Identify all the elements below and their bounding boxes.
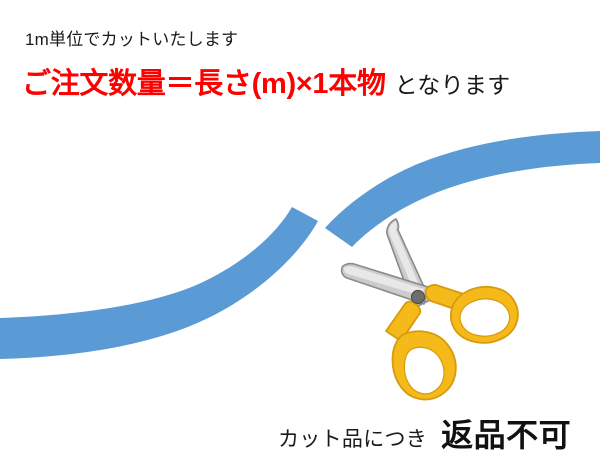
- scissors-icon: [342, 219, 518, 399]
- cut-notice-graphic: 1m単位でカットいたします ご注文数量＝長さ(m)×1本物となります カット品に…: [0, 0, 600, 466]
- scissors-shank-upper: [426, 285, 470, 313]
- blue-cord-upper-segment: [325, 131, 600, 247]
- footer-note-small: カット品につき: [278, 428, 427, 451]
- headline-main-black: となります: [395, 72, 511, 98]
- scissors-blade-upper: [387, 219, 430, 308]
- scissors-blade-upper-highlight: [389, 221, 424, 300]
- scissors-handle-hole-upper: [460, 299, 510, 336]
- scissors-pivot-screw: [412, 291, 425, 304]
- scissors-handle-loop-upper: [451, 287, 518, 343]
- scissors-blade-left-highlight: [344, 266, 424, 296]
- scissors-handle-hole-lower: [404, 347, 444, 394]
- footer-note: カット品につき返品不可: [278, 419, 571, 451]
- scissors-handle-loop-lower: [393, 331, 456, 399]
- headline-sub-text: 1m単位でカットいたします: [25, 31, 238, 48]
- scissors-shank-lower: [386, 302, 420, 341]
- footer-note-emphasis: 返品不可: [441, 417, 571, 453]
- headline-main-red: ご注文数量＝長さ(m)×1本物: [22, 68, 386, 100]
- headline-main-text: ご注文数量＝長さ(m)×1本物となります: [22, 70, 510, 99]
- blue-cord-lower-segment: [0, 207, 318, 359]
- scissors-blade-left: [342, 264, 428, 304]
